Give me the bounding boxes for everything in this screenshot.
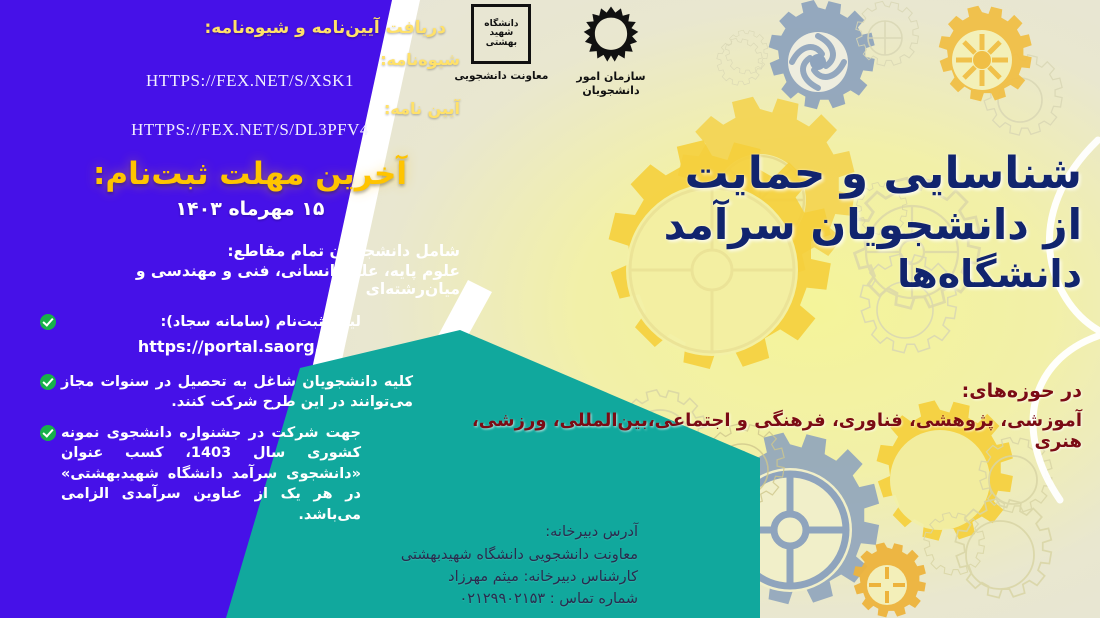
bullet-text-3: جهت شرکت در جشنواره دانشجوی نمونه کشوری … xyxy=(61,423,361,526)
method-label: شیوه‌نامه: xyxy=(40,50,460,69)
regulation-url[interactable]: HTTPS://FEX.NET/S/DL3PFV4 xyxy=(40,120,460,140)
registration-portal-url[interactable]: https://portal.saorg.ir xyxy=(40,337,460,356)
university-logo: دانشگاه شهید بهشتی معاونت دانشجویی xyxy=(454,4,548,82)
secretariat-heading: آدرس دبیرخانه: xyxy=(258,521,638,543)
fields-heading: در حوزه‌های: xyxy=(462,380,1082,402)
list-item: لینک ثبت‌نام (سامانه سجاد): xyxy=(40,312,460,333)
regulation-label: آیین نامه: xyxy=(40,99,460,118)
secretariat-block: آدرس دبیرخانه: معاونت دانشجویی دانشگاه ش… xyxy=(258,521,638,610)
download-heading: دریافت آیین‌نامه و شیوه‌نامه: xyxy=(40,18,446,38)
logo-group: سازمان امور دانشجویان دانشگاه شهید بهشتی… xyxy=(425,4,675,116)
student-affairs-star-logo-icon xyxy=(580,4,642,66)
list-item: جهت شرکت در جشنواره دانشجوی نمونه کشوری … xyxy=(40,423,460,526)
title-line-2: از دانشجویان سرآمد xyxy=(522,201,1082,250)
secretariat-line-2: کارشناس دبیرخانه: میثم مهرزاد xyxy=(258,566,638,588)
check-circle-icon xyxy=(40,425,56,441)
includes-line-1: شامل دانشجویان تمام مقاطع: xyxy=(40,242,460,260)
secretariat-phone: شماره تماس : ۰۲۱۲۹۹۰۲۱۵۳ xyxy=(258,588,638,610)
left-info-column: دریافت آیین‌نامه و شیوه‌نامه: شیوه‌نامه:… xyxy=(40,8,460,536)
deadline-title: آخرین مهلت ثبت‌نام: xyxy=(40,156,460,192)
secretariat-line-1: معاونت دانشجویی دانشگاه شهیدبهشتی xyxy=(258,544,638,566)
org-caption-line2: دانشجویان xyxy=(582,84,639,97)
shahid-beheshti-logo-icon: دانشگاه شهید بهشتی xyxy=(471,4,531,64)
poster-root: سازمان امور دانشجویان دانشگاه شهید بهشتی… xyxy=(0,0,1100,618)
deadline-date: ۱۵ مهرماه ۱۴۰۳ xyxy=(40,198,460,220)
bullet-text-2: کلیه دانشجویان شاغل به تحصیل در سنوات مج… xyxy=(61,372,413,413)
bullet-text-1: لینک ثبت‌نام (سامانه سجاد): xyxy=(61,312,361,333)
includes-line-2: علوم پایه، علوم انسانی، فنی و مهندسی و م… xyxy=(40,262,460,298)
organization-logo-caption: سازمان امور دانشجویان xyxy=(576,70,645,98)
fields-block: در حوزه‌های: آموزشی، پژوهشی، فناوری، فره… xyxy=(462,380,1082,452)
title-line-3: دانشگاه‌ها xyxy=(522,252,1082,296)
main-title: شناسایی و حمایت از دانشجویان سرآمد دانشگ… xyxy=(522,148,1082,298)
method-url[interactable]: HTTPS://FEX.NET/S/XSK1 xyxy=(40,71,460,91)
university-logo-caption: معاونت دانشجویی xyxy=(454,70,548,82)
check-circle-icon xyxy=(40,374,56,390)
list-item: کلیه دانشجویان شاغل به تحصیل در سنوات مج… xyxy=(40,372,460,413)
fields-list: آموزشی، پژوهشی، فناوری، فرهنگی و اجتماعی… xyxy=(462,410,1082,452)
org-caption-line1: سازمان امور xyxy=(576,70,645,83)
title-line-1: شناسایی و حمایت xyxy=(522,148,1082,199)
organization-logo: سازمان امور دانشجویان xyxy=(576,4,645,98)
check-circle-icon xyxy=(40,314,56,330)
